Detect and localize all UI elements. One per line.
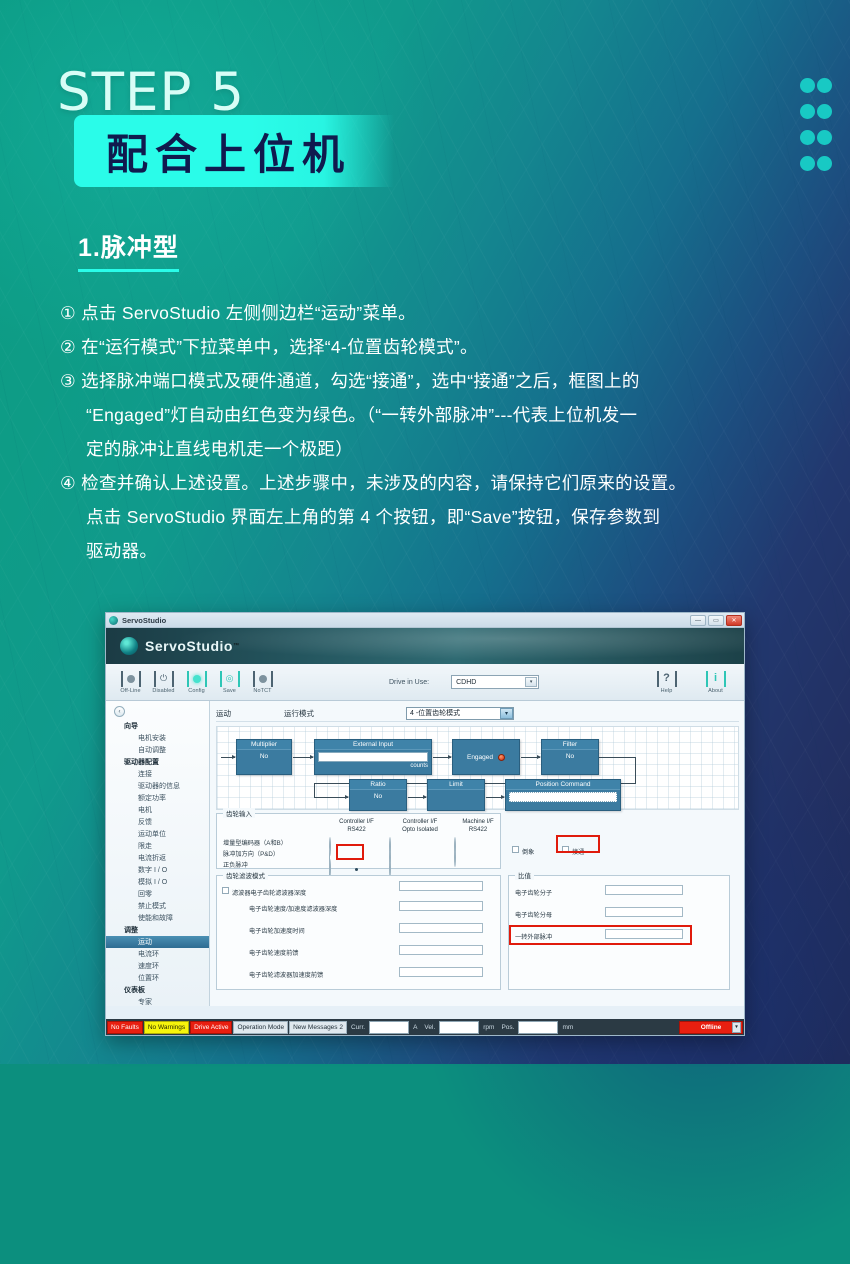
- block-title: Multiplier: [237, 740, 291, 750]
- operation-mode-label: 运行模式: [284, 708, 406, 719]
- diagram-arrow: [293, 757, 313, 758]
- status-new-messages[interactable]: New Messages 2: [289, 1021, 347, 1034]
- instruction-list: ① 点击 ServoStudio 左侧侧边栏“运动”菜单。 ② 在“运行模式”下…: [60, 296, 850, 568]
- radio-pulse-direction-machine[interactable]: [454, 849, 502, 867]
- sidebar-item-velocity-loop[interactable]: 速度环: [106, 960, 209, 972]
- instruction-item: ① 点击 ServoStudio 左侧侧边栏“运动”菜单。: [60, 296, 850, 330]
- sidebar-item-current-loop[interactable]: 电流环: [106, 948, 209, 960]
- diagram-wire: [599, 757, 636, 758]
- sidebar-collapse-icon[interactable]: ‹: [114, 706, 125, 717]
- toolbar-button-help[interactable]: ? Help: [650, 671, 683, 694]
- toolbar-button-save[interactable]: ◎ Save: [213, 671, 246, 694]
- gear-filter-field-1[interactable]: [399, 901, 483, 911]
- gear-filter-field-4[interactable]: [399, 967, 483, 977]
- gear-filter-checkbox[interactable]: 滤波器电子齿轮滤波器深度: [222, 882, 306, 900]
- gear-filter-label-2: 电子齿轮加速度时间: [249, 926, 305, 935]
- toolbar-label: Disabled: [147, 688, 180, 694]
- gear-input-title: 齿轮输入: [223, 808, 255, 818]
- sidebar-item-motor[interactable]: 电机: [106, 804, 209, 816]
- dot: [800, 130, 815, 145]
- gear-filter-field-2[interactable]: [399, 923, 483, 933]
- instruction-item: 点击 ServoStudio 界面左上角的第 4 个按钮，即“Save”按钮，保…: [60, 500, 850, 534]
- block-external-input[interactable]: External Input counts: [314, 739, 432, 775]
- gear-input-row-label: 增量型编码器（A和B）: [223, 838, 287, 847]
- status-drive-active: Drive Active: [190, 1021, 232, 1034]
- decorative-dot-grid: [800, 78, 834, 182]
- toolbar-button-config[interactable]: Config: [180, 671, 213, 694]
- diagram-arrow: [486, 797, 504, 798]
- ratio-field-numerator[interactable]: [605, 885, 683, 895]
- toolbar-label: About: [699, 688, 732, 694]
- sidebar-item-motion-units[interactable]: 运动单位: [106, 828, 209, 840]
- status-fault: No Faults: [107, 1021, 143, 1034]
- instruction-item: ③ 选择脉冲端口模式及硬件通道，勾选“接通”，选中“接通”之后，框图上的: [60, 364, 850, 398]
- toolbar-label: NoTCT: [246, 688, 279, 694]
- sidebar-group-dashboard[interactable]: 仪表板: [106, 984, 209, 996]
- highlight-engage-checkbox: [556, 835, 600, 853]
- status-bar: No Faults No Warnings Drive Active Opera…: [106, 1019, 744, 1035]
- trademark-mark: ™: [233, 643, 239, 649]
- column-header-controller-opto: Controller I/FOpto Isolated: [389, 818, 451, 834]
- window-titlebar: ServoStudio — ▭ ✕: [106, 613, 744, 628]
- chevron-down-icon[interactable]: ▾: [500, 708, 513, 719]
- close-button[interactable]: ✕: [726, 615, 742, 626]
- toolbar-button-offline[interactable]: Off-Line: [114, 671, 147, 694]
- diagram-arrow: [408, 797, 426, 798]
- dot: [817, 78, 832, 93]
- position-command-field[interactable]: [509, 792, 617, 802]
- diagram-arrow: [314, 797, 348, 798]
- app-logo-icon: [109, 616, 118, 625]
- dot: [800, 156, 815, 171]
- sidebar-item-expert[interactable]: 专家: [106, 996, 209, 1006]
- gear-input-group: 齿轮输入 Controller I/FRS422 Controller I/FO…: [216, 813, 501, 869]
- ratio-group-title: 比值: [515, 870, 534, 880]
- diagram-arrow: [433, 757, 451, 758]
- block-filter[interactable]: Filter No: [541, 739, 599, 775]
- block-value: No: [350, 790, 406, 803]
- step-label: STEP 5: [57, 62, 245, 123]
- gear-input-row-label: 正负脉冲: [223, 860, 248, 869]
- status-position-label: Pos.: [498, 1021, 517, 1034]
- toolbar-button-about[interactable]: i About: [699, 671, 732, 694]
- sidebar-item-motion[interactable]: 运动: [106, 936, 209, 948]
- gear-filter-group: 齿轮滤波模式 滤波器电子齿轮滤波器深度 电子齿轮速度/加速度滤波器深度 电子齿轮…: [216, 875, 501, 990]
- engaged-led-icon: [498, 754, 505, 761]
- window-body: ‹ 向导 电机安装 自动调整 驱动器配置 连接 驱动器的信息 额定功率 电机 反…: [106, 701, 744, 1006]
- info-icon: i: [706, 671, 726, 687]
- gear-filter-field-0[interactable]: [399, 881, 483, 891]
- gear-input-row-label: 脉冲加方向（P&D）: [223, 849, 279, 858]
- sidebar-item-motor-setup[interactable]: 电机安装: [106, 732, 209, 744]
- status-current-label: Curr.: [348, 1021, 368, 1034]
- ratio-field-denominator[interactable]: [605, 907, 683, 917]
- title-banner: 配合上位机: [74, 115, 394, 187]
- toolbar-label: Off-Line: [114, 688, 147, 694]
- window-controls: — ▭ ✕: [690, 615, 742, 626]
- main-toolbar: Off-Line ⏻ Disabled Config ◎ Save NoTCT …: [106, 664, 744, 701]
- operation-mode-row: 运动 运行模式 4 -位置齿轮模式 ▾: [216, 705, 739, 722]
- engaged-label: Engaged: [467, 754, 493, 761]
- power-icon: ⏻: [154, 671, 174, 687]
- minimize-button[interactable]: —: [690, 615, 706, 626]
- block-ratio[interactable]: Ratio No: [349, 779, 407, 811]
- sidebar-item-position-loop[interactable]: 位置环: [106, 972, 209, 984]
- block-value: No: [542, 750, 598, 763]
- status-velocity-unit: rpm: [480, 1021, 497, 1034]
- sidebar-item-analog-io[interactable]: 模拟 I / O: [106, 876, 209, 888]
- gear-filter-label-4: 电子齿轮滤波器加速度前馈: [249, 970, 323, 979]
- config-icon: [187, 671, 207, 687]
- question-mark-icon: ?: [657, 671, 677, 687]
- instruction-item: ④ 检查并确认上述设置。上述步骤中，未涉及的内容，请保持它们原来的设置。: [60, 466, 850, 500]
- sidebar-item-rated-power[interactable]: 额定功率: [106, 792, 209, 804]
- external-input-units: counts: [410, 763, 428, 769]
- diagram-wire: [314, 783, 315, 797]
- block-title: Filter: [542, 740, 598, 750]
- status-current-unit: A: [410, 1021, 420, 1034]
- sidebar-group-tuning[interactable]: 调整: [106, 924, 209, 936]
- sidebar-item-homing[interactable]: 回零: [106, 888, 209, 900]
- toolbar-button-disabled[interactable]: ⏻ Disabled: [147, 671, 180, 694]
- section-title: 1.脉冲型: [78, 228, 179, 272]
- sidebar-item-digital-io[interactable]: 数字 I / O: [106, 864, 209, 876]
- toolbar-label: Help: [650, 688, 683, 694]
- operation-mode-select[interactable]: 4 -位置齿轮模式 ▾: [406, 707, 514, 720]
- toolbar-label: Config: [180, 688, 213, 694]
- block-value: No: [237, 750, 291, 763]
- gear-filter-label-1: 电子齿轮速度/加速度滤波器深度: [249, 904, 337, 913]
- window-title: ServoStudio: [122, 616, 166, 625]
- dot: [800, 78, 815, 93]
- sidebar-item-connection[interactable]: 连接: [106, 768, 209, 780]
- diagram-wire: [635, 757, 636, 784]
- highlight-external-pulses-row: [509, 925, 692, 945]
- checkbox-box[interactable]: [222, 887, 229, 894]
- toolbar-label: Save: [213, 688, 246, 694]
- instruction-item: “Engaged”灯自动由红色变为绿色。（“一转外部脉冲”---代表上位机发一: [60, 398, 850, 432]
- servostudio-window: ServoStudio — ▭ ✕ ServoStudio ™ Off-Line…: [105, 612, 745, 1036]
- block-value: [428, 790, 484, 796]
- brand-name: ServoStudio: [145, 638, 233, 654]
- column-header-controller-rs422: Controller I/FRS422: [329, 818, 384, 834]
- instruction-item: 驱动器。: [60, 534, 850, 568]
- sidebar-item-limits[interactable]: 限走: [106, 840, 209, 852]
- status-position-unit: mm: [559, 1021, 576, 1034]
- motion-panel: 运动 运行模式 4 -位置齿轮模式 ▾ Multiplier No Extern…: [210, 701, 744, 1006]
- block-position-command[interactable]: Position Command: [505, 779, 621, 811]
- sidebar-group-drive-config[interactable]: 驱动器配置: [106, 756, 209, 768]
- chevron-down-icon[interactable]: ▾: [732, 1022, 741, 1033]
- status-warning: No Warnings: [144, 1021, 189, 1034]
- checkbox-box[interactable]: [512, 846, 519, 853]
- dot: [817, 130, 832, 145]
- status-current-value: [369, 1021, 409, 1034]
- external-input-field[interactable]: [318, 752, 428, 762]
- operation-mode-value: 4 -位置齿轮模式: [410, 708, 460, 718]
- notct-icon: [253, 671, 273, 687]
- block-limit[interactable]: Limit: [427, 779, 485, 811]
- sidebar-item-enable-fault[interactable]: 使能和故障: [106, 912, 209, 924]
- save-icon: ◎: [220, 671, 240, 687]
- ratio-label-numerator: 电子齿轮分子: [515, 888, 552, 897]
- maximize-button[interactable]: ▭: [708, 615, 724, 626]
- chevron-down-icon[interactable]: ▾: [525, 677, 537, 687]
- gear-filter-title: 齿轮滤波模式: [223, 870, 268, 880]
- page-title: 配合上位机: [106, 121, 351, 182]
- sidebar-item-feedback[interactable]: 反馈: [106, 816, 209, 828]
- column-header-machine-rs422: Machine I/FRS422: [454, 818, 502, 834]
- diagram-arrow: [521, 757, 540, 758]
- dot: [817, 104, 832, 119]
- dot: [817, 156, 832, 171]
- invert-label: 倒象: [522, 849, 534, 856]
- status-position-value: [518, 1021, 558, 1034]
- gearing-block-diagram: Multiplier No External Input counts Enga…: [216, 726, 739, 810]
- drive-in-use-value: CDHD: [456, 679, 476, 686]
- dot: [800, 104, 815, 119]
- gear-filter-field-3[interactable]: [399, 945, 483, 955]
- drive-in-use-select[interactable]: CDHD ▾: [451, 675, 539, 689]
- block-multiplier[interactable]: Multiplier No: [236, 739, 292, 775]
- sidebar-group-wizard[interactable]: 向导: [106, 720, 209, 732]
- toolbar-right-group: ? Help i About: [650, 671, 732, 694]
- sidebar-item-drive-info[interactable]: 驱动器的信息: [106, 780, 209, 792]
- section-title-wrapper: 1.脉冲型: [78, 228, 179, 272]
- highlight-pulse-direction-radio: [336, 844, 364, 860]
- invert-checkbox[interactable]: 倒象: [512, 841, 534, 859]
- instruction-item: ② 在“运行模式”下拉菜单中，选择“4-位置齿轮模式”。: [60, 330, 850, 364]
- sidebar-item-auto-tuning[interactable]: 自动调整: [106, 744, 209, 756]
- drive-in-use-label: Drive in Use:: [389, 679, 429, 686]
- instruction-item: 定的脉冲让直线电机走一个极距）: [60, 432, 850, 466]
- block-title: Limit: [428, 780, 484, 790]
- status-connection-select[interactable]: Offline ▾: [679, 1021, 743, 1034]
- offline-icon: [121, 671, 141, 687]
- block-title: External Input: [315, 740, 431, 750]
- status-connection-value: Offline: [701, 1024, 722, 1031]
- block-engaged[interactable]: Engaged: [452, 739, 520, 775]
- status-velocity-value: [439, 1021, 479, 1034]
- sidebar-item-inhibit-mode[interactable]: 禁止模式: [106, 900, 209, 912]
- sidebar-item-current-foldback[interactable]: 电流折返: [106, 852, 209, 864]
- toolbar-button-notct[interactable]: NoTCT: [246, 671, 279, 694]
- servostudio-logo-icon: [120, 637, 138, 655]
- brand-banner: ServoStudio ™: [106, 628, 744, 664]
- gear-filter-checkbox-label: 滤波器电子齿轮滤波器深度: [232, 890, 306, 897]
- ratio-label-denominator: 电子齿轮分母: [515, 910, 552, 919]
- block-title: Ratio: [350, 780, 406, 790]
- navigation-sidebar: ‹ 向导 电机安装 自动调整 驱动器配置 连接 驱动器的信息 额定功率 电机 反…: [106, 701, 210, 1006]
- gear-filter-label-3: 电子齿轮速度前馈: [249, 948, 299, 957]
- status-operation-mode[interactable]: Operation Mode: [233, 1021, 288, 1034]
- diagram-arrow: [221, 757, 235, 758]
- motion-heading: 运动: [216, 708, 284, 719]
- block-title: Position Command: [506, 780, 620, 790]
- status-velocity-label: Vel.: [421, 1021, 438, 1034]
